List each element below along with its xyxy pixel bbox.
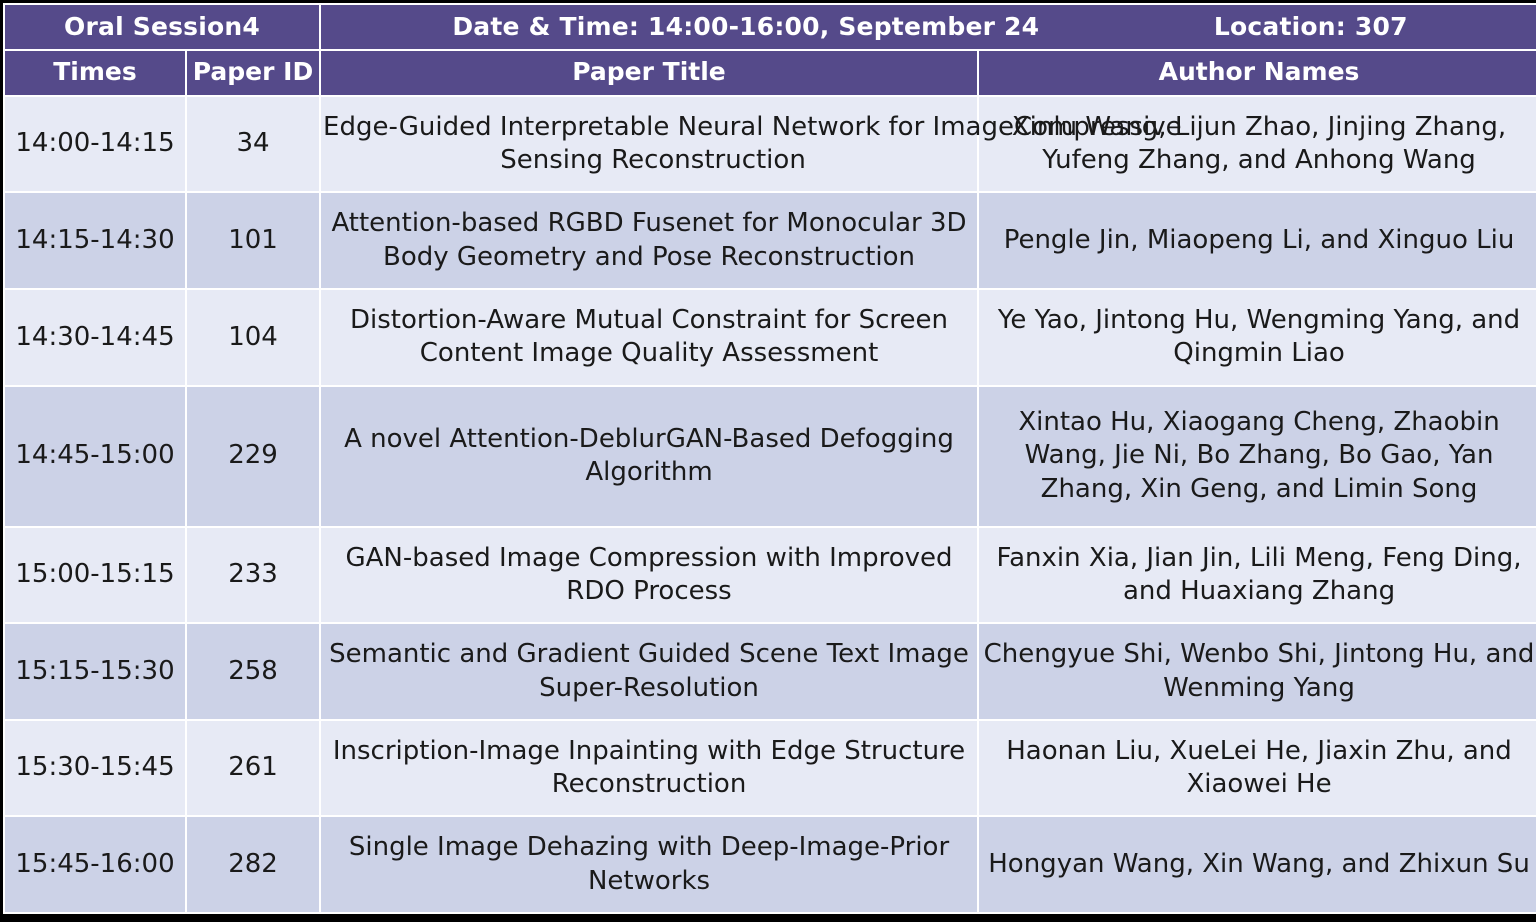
row-paper-title-text: Inscription-Image Inpainting with Edge S… <box>333 736 965 799</box>
table-title-row: Oral Session4 Date & Time: 14:00-16:00, … <box>5 5 1536 49</box>
column-header-times-label: Times <box>53 57 137 86</box>
row-paper-id-cell: 261 <box>187 721 319 816</box>
row-paper-title-text: Distortion-Aware Mutual Constraint for S… <box>350 305 948 368</box>
row-authors-cell: Fanxin Xia, Jian Jin, Lili Meng, Feng Di… <box>979 528 1536 623</box>
row-authors-text: Fanxin Xia, Jian Jin, Lili Meng, Feng Di… <box>997 543 1522 606</box>
row-authors-cell: Ye Yao, Jintong Hu, Wengming Yang, and Q… <box>979 290 1536 385</box>
row-paper-title-cell: GAN-based Image Compression with Improve… <box>321 528 977 623</box>
column-header-author-names-label: Author Names <box>1159 57 1360 86</box>
row-paper-id-text: 282 <box>228 849 278 879</box>
row-paper-id-cell: 104 <box>187 290 319 385</box>
session-schedule-table: Oral Session4 Date & Time: 14:00-16:00, … <box>3 3 1536 914</box>
column-header-times: Times <box>5 51 185 95</box>
row-time-cell: 14:30-14:45 <box>5 290 185 385</box>
row-paper-id-cell: 34 <box>187 97 319 192</box>
row-authors-text: Hongyan Wang, Xin Wang, and Zhixun Su <box>988 849 1530 879</box>
row-time-text: 15:00-15:15 <box>15 559 174 589</box>
table-column-header-row: Times Paper ID Paper Title Author Names <box>5 51 1536 95</box>
row-paper-title-cell: Semantic and Gradient Guided Scene Text … <box>321 624 977 719</box>
session-title-text: Oral Session4 <box>64 12 260 41</box>
row-authors-cell: Haonan Liu, XueLei He, Jiaxin Zhu, and X… <box>979 721 1536 816</box>
row-authors-cell: Xintao Hu, Xiaogang Cheng, Zhaobin Wang,… <box>979 387 1536 526</box>
row-time-cell: 14:15-14:30 <box>5 193 185 288</box>
row-time-cell: 14:00-14:15 <box>5 97 185 192</box>
row-time-cell: 15:00-15:15 <box>5 528 185 623</box>
table-row: 15:30-15:45 261 Inscription-Image Inpain… <box>5 721 1536 816</box>
row-time-text: 15:30-15:45 <box>15 752 174 782</box>
row-authors-text: Chengyue Shi, Wenbo Shi, Jintong Hu, and… <box>984 639 1535 702</box>
row-paper-id-cell: 229 <box>187 387 319 526</box>
row-paper-title-cell: Attention-based RGBD Fusenet for Monocul… <box>321 193 977 288</box>
row-paper-id-cell: 233 <box>187 528 319 623</box>
row-paper-title-cell: Distortion-Aware Mutual Constraint for S… <box>321 290 977 385</box>
row-authors-text: Ye Yao, Jintong Hu, Wengming Yang, and Q… <box>998 305 1520 368</box>
row-time-text: 15:45-16:00 <box>15 849 174 879</box>
row-paper-title-cell: Single Image Dehazing with Deep-Image-Pr… <box>321 817 977 912</box>
row-time-text: 14:00-14:15 <box>15 128 174 158</box>
row-paper-id-cell: 101 <box>187 193 319 288</box>
column-header-paper-title-label: Paper Title <box>572 57 726 86</box>
row-time-cell: 15:45-16:00 <box>5 817 185 912</box>
row-paper-id-text: 101 <box>228 225 278 255</box>
row-time-text: 14:45-15:00 <box>15 440 174 470</box>
row-authors-text: Haonan Liu, XueLei He, Jiaxin Zhu, and X… <box>1006 736 1512 799</box>
row-paper-title-cell: A novel Attention-DeblurGAN-Based Defogg… <box>321 387 977 526</box>
row-paper-title-text: GAN-based Image Compression with Improve… <box>346 543 953 606</box>
row-paper-id-text: 233 <box>228 559 278 589</box>
row-time-text: 15:15-15:30 <box>15 656 174 686</box>
session-datetime-text: Date & Time: 14:00-16:00, September 24 <box>452 13 1039 42</box>
slide-canvas: Oral Session4 Date & Time: 14:00-16:00, … <box>0 0 1536 922</box>
row-time-cell: 14:45-15:00 <box>5 387 185 526</box>
column-header-paper-id-label: Paper ID <box>193 57 313 86</box>
row-authors-text: Xintao Hu, Xiaogang Cheng, Zhaobin Wang,… <box>1018 407 1499 504</box>
table-row: 14:15-14:30 101 Attention-based RGBD Fus… <box>5 193 1536 288</box>
table-row: 15:15-15:30 258 Semantic and Gradient Gu… <box>5 624 1536 719</box>
session-title-cell: Oral Session4 <box>5 5 319 49</box>
table-row: 15:45-16:00 282 Single Image Dehazing wi… <box>5 817 1536 912</box>
row-paper-title-text: Edge-Guided Interpretable Neural Network… <box>323 111 983 178</box>
row-authors-text: Pengle Jin, Miaopeng Li, and Xinguo Liu <box>1004 225 1515 255</box>
table-row: 14:30-14:45 104 Distortion-Aware Mutual … <box>5 290 1536 385</box>
row-paper-title-text: Single Image Dehazing with Deep-Image-Pr… <box>349 832 949 895</box>
row-paper-title-cell: Edge-Guided Interpretable Neural Network… <box>321 97 977 192</box>
table-row: 14:45-15:00 229 A novel Attention-Deblur… <box>5 387 1536 526</box>
row-paper-id-text: 34 <box>236 128 269 158</box>
row-time-cell: 15:15-15:30 <box>5 624 185 719</box>
column-header-paper-id: Paper ID <box>187 51 319 95</box>
column-header-paper-title: Paper Title <box>321 51 977 95</box>
row-time-text: 14:30-14:45 <box>15 322 174 352</box>
row-paper-id-text: 229 <box>228 440 278 470</box>
table-row: 14:00-14:15 34 Edge-Guided Interpretable… <box>5 97 1536 192</box>
row-authors-cell: Chengyue Shi, Wenbo Shi, Jintong Hu, and… <box>979 624 1536 719</box>
column-header-author-names: Author Names <box>979 51 1536 95</box>
row-paper-id-cell: 282 <box>187 817 319 912</box>
session-location-text: Location: 307 <box>1214 13 1408 42</box>
row-paper-id-text: 104 <box>228 322 278 352</box>
row-paper-title-cell: Inscription-Image Inpainting with Edge S… <box>321 721 977 816</box>
row-paper-title-text: Semantic and Gradient Guided Scene Text … <box>329 639 969 702</box>
row-paper-id-text: 258 <box>228 656 278 686</box>
row-authors-cell: Pengle Jin, Miaopeng Li, and Xinguo Liu <box>979 193 1536 288</box>
table-row: 15:00-15:15 233 GAN-based Image Compress… <box>5 528 1536 623</box>
row-paper-id-text: 261 <box>228 752 278 782</box>
row-paper-title-text: A novel Attention-DeblurGAN-Based Defogg… <box>344 424 954 487</box>
row-paper-id-cell: 258 <box>187 624 319 719</box>
row-time-text: 14:15-14:30 <box>15 225 174 255</box>
row-paper-title-text: Attention-based RGBD Fusenet for Monocul… <box>331 208 966 271</box>
row-paper-title-line1: Edge-Guided Interpretable Neural Network… <box>323 112 1014 142</box>
row-time-cell: 15:30-15:45 <box>5 721 185 816</box>
session-meta-cell: Date & Time: 14:00-16:00, September 24 L… <box>321 5 1536 49</box>
row-authors-cell: Hongyan Wang, Xin Wang, and Zhixun Su <box>979 817 1536 912</box>
